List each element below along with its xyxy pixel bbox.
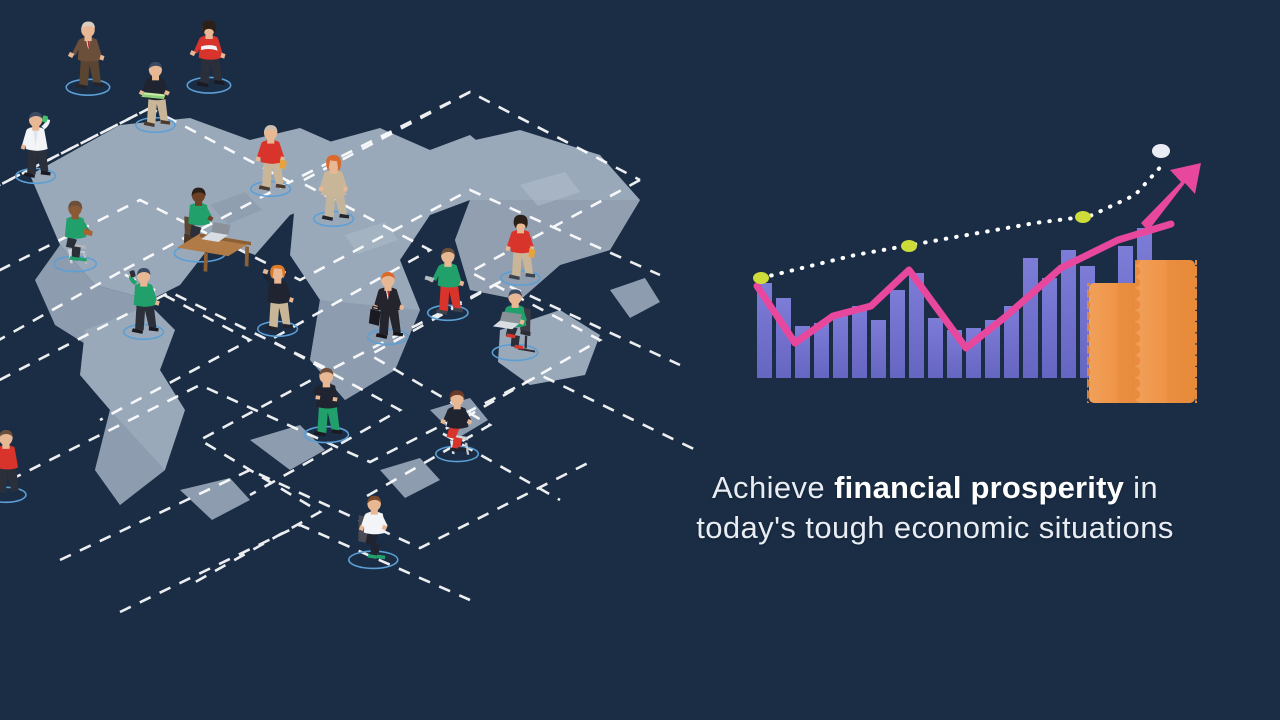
isometric-world-map-illustration [0, 0, 700, 640]
dotted-projection-line [761, 162, 1165, 278]
bar [852, 306, 867, 378]
caption-line-2: today's tough economic situations [630, 508, 1240, 548]
marker-late [1075, 211, 1091, 223]
caption-text: Achieve financial prosperity in today's … [630, 468, 1240, 549]
marker-mid [901, 240, 917, 252]
bar [1042, 278, 1057, 378]
bar [928, 318, 943, 378]
caption-line-1: Achieve financial prosperity in [630, 468, 1240, 508]
caption-post: in [1124, 470, 1158, 505]
bar [871, 320, 886, 378]
marker-end [1152, 144, 1170, 158]
bar [890, 290, 905, 378]
coin-stack-tall [1133, 260, 1197, 403]
financial-growth-chart [735, 120, 1235, 430]
bar [833, 316, 848, 378]
caption-strong: financial prosperity [834, 470, 1124, 505]
bar [1023, 258, 1038, 378]
slide-root: Achieve financial prosperity in today's … [0, 0, 1280, 720]
marker-start [753, 272, 769, 284]
caption-pre: Achieve [712, 470, 834, 505]
